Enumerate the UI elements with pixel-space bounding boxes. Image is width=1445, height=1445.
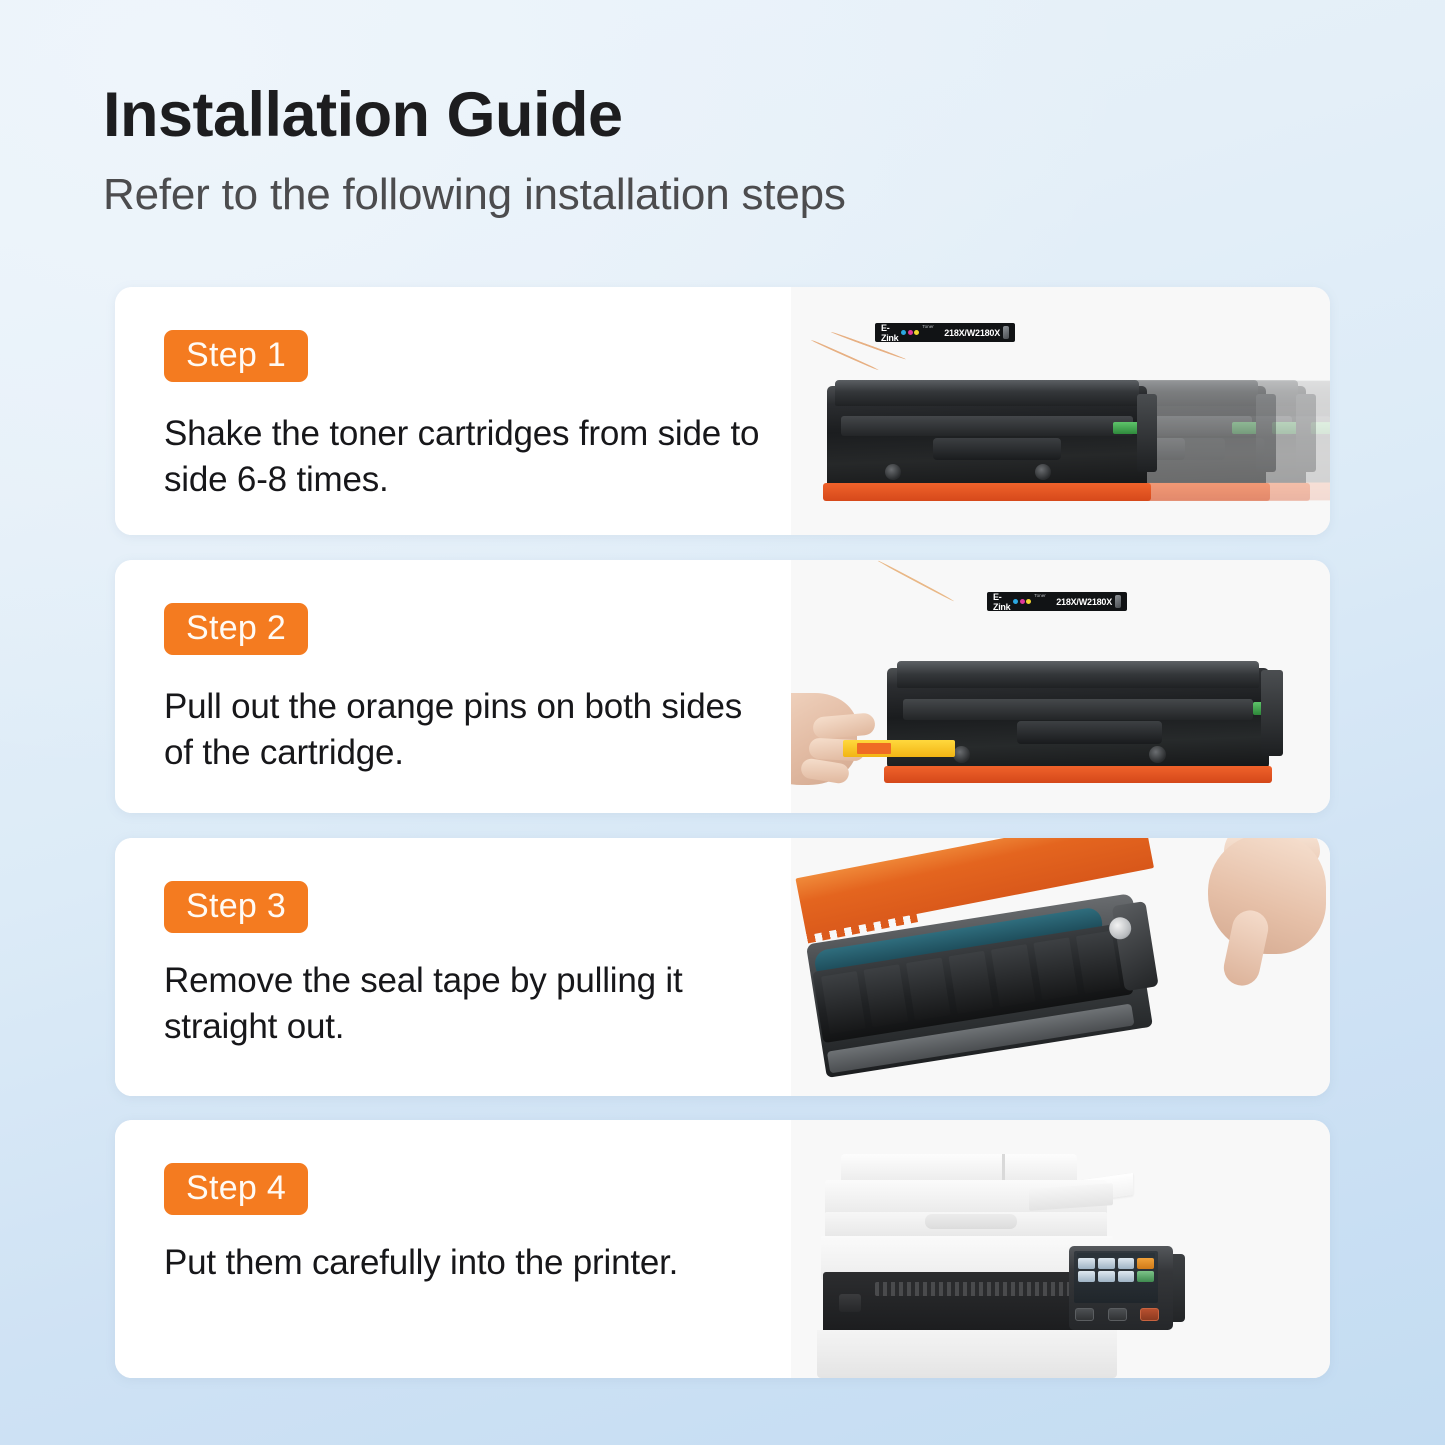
hand-illustration — [1166, 838, 1330, 1014]
step-illustration: E-Zink Toner Cartridge 218X/W2180X — [791, 560, 1330, 813]
orange-pull-pin — [843, 740, 955, 757]
nfc-touch-icon — [839, 1294, 861, 1312]
step-illustration — [791, 1120, 1330, 1378]
step-illustration: E-Zink Toner Cartridge 218X/W2180X — [791, 287, 1330, 535]
step-text-panel: Step 4 Put them carefully into the print… — [115, 1120, 791, 1378]
step-description: Pull out the orange pins on both sides o… — [164, 684, 764, 775]
touchscreen-app-grid — [1078, 1258, 1154, 1282]
cartridge-sub-text: Toner Cartridge — [922, 323, 941, 342]
step-card: Step 1 Shake the toner cartridges from s… — [115, 287, 1330, 535]
step-illustration — [791, 838, 1330, 1096]
page-subtitle: Refer to the following installation step… — [103, 171, 1303, 219]
pull-orange-pin-image: E-Zink Toner Cartridge 218X/W2180X — [791, 560, 1330, 813]
hologram-seal-icon — [1115, 595, 1121, 608]
printer-image — [791, 1120, 1330, 1378]
step-badge: Step 2 — [164, 603, 308, 655]
multifunction-printer — [813, 1150, 1179, 1378]
hologram-seal-icon — [1003, 326, 1009, 339]
cartridge-brand-text: E-Zink — [993, 592, 1010, 611]
printer-control-panel — [1069, 1246, 1173, 1330]
page-title: Installation Guide — [103, 82, 1303, 148]
header: Installation Guide Refer to the followin… — [103, 82, 1303, 220]
home-button — [1075, 1308, 1094, 1321]
step-badge: Step 4 — [164, 1163, 308, 1215]
cmyk-dots-icon — [1013, 599, 1031, 604]
cartridge-brand-label: E-Zink Toner Cartridge 218X/W2180X — [875, 323, 1015, 342]
step-badge: Step 3 — [164, 881, 308, 933]
cartridge-brand-label: E-Zink Toner Cartridge 218X/W2180X — [987, 592, 1127, 611]
cancel-button — [1140, 1308, 1159, 1321]
toner-cartridge-front — [887, 658, 1269, 783]
step-text-panel: Step 1 Shake the toner cartridges from s… — [115, 287, 791, 535]
step-card: Step 3 Remove the seal tape by pulling i… — [115, 838, 1330, 1096]
toner-cartridge-row-image: E-Zink Toner Cartridge 218X/W2180X — [791, 287, 1330, 535]
step-card: Step 4 Put them carefully into the print… — [115, 1120, 1330, 1378]
cartridge-sub-text: Toner Cartridge — [1034, 592, 1053, 611]
cartridge-model-text: 218X/W2180X — [944, 328, 1000, 338]
cartridge-model-text: 218X/W2180X — [1056, 597, 1112, 607]
step-description: Remove the seal tape by pulling it strai… — [164, 958, 764, 1049]
remove-seal-tape-image — [791, 838, 1330, 1096]
settings-button — [1108, 1308, 1127, 1321]
step-text-panel: Step 3 Remove the seal tape by pulling i… — [115, 838, 791, 1096]
printer-touchscreen — [1074, 1251, 1158, 1303]
cartridge-wire-icon — [878, 560, 955, 602]
step-description: Shake the toner cartridges from side to … — [164, 411, 764, 502]
hand-illustration — [791, 677, 889, 797]
step-badge: Step 1 — [164, 330, 308, 382]
step-description: Put them carefully into the printer. — [164, 1240, 764, 1286]
cartridge-brand-text: E-Zink — [881, 323, 898, 342]
step-text-panel: Step 2 Pull out the orange pins on both … — [115, 560, 791, 813]
toner-cartridge-front — [827, 376, 1147, 501]
installation-guide-page: Installation Guide Refer to the followin… — [0, 0, 1445, 1445]
step-card: Step 2 Pull out the orange pins on both … — [115, 560, 1330, 813]
printer-hardware-buttons — [1075, 1308, 1159, 1321]
cmyk-dots-icon — [901, 330, 919, 335]
